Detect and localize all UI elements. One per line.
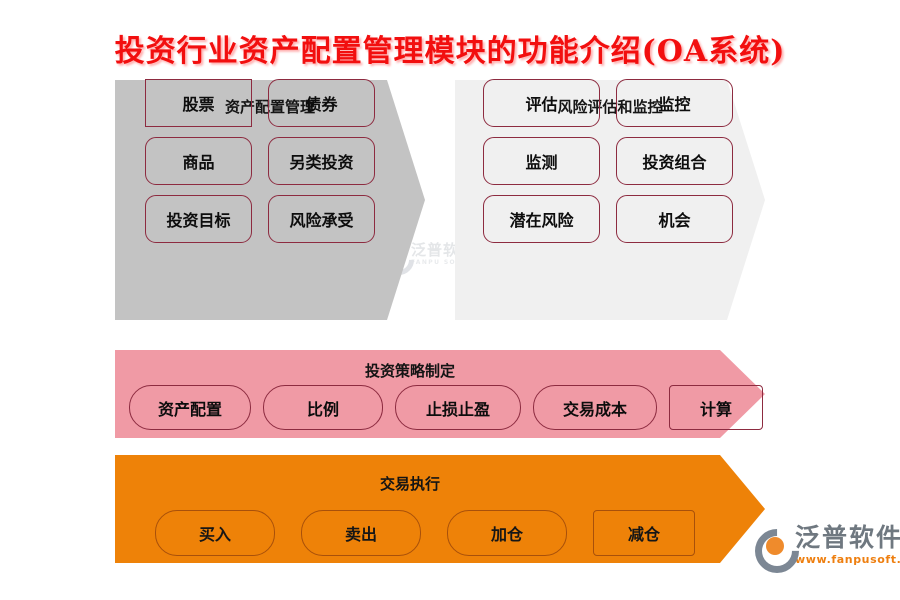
node-pinggu[interactable]: 评估 — [483, 79, 600, 127]
node-jiancang[interactable]: 减仓 — [593, 510, 695, 556]
node-maichu[interactable]: 卖出 — [301, 510, 421, 556]
fanpu-logo-icon — [755, 528, 789, 562]
band-investment-strategy[interactable]: 投资策略制定 资产配置 比例 止损止盈 交易成本 计算 — [115, 350, 765, 438]
node-linglei-touzi[interactable]: 另类投资 — [268, 137, 375, 185]
node-zhisun-zhiying[interactable]: 止损止盈 — [395, 385, 521, 430]
node-jisuan[interactable]: 计算 — [669, 385, 763, 430]
brand-name: 泛普软件 — [795, 525, 900, 550]
node-row-investment-strategy: 资产配置 比例 止损止盈 交易成本 计算 — [129, 385, 763, 430]
node-jihui[interactable]: 机会 — [616, 195, 733, 243]
node-jiance[interactable]: 监测 — [483, 137, 600, 185]
node-grid-asset-allocation: 股票 债券 商品 另类投资 投资目标 风险承受 — [145, 79, 375, 243]
band-heading-investment-strategy: 投资策略制定 — [85, 360, 735, 381]
node-fengxian-chengshou[interactable]: 风险承受 — [268, 195, 375, 243]
node-mairu[interactable]: 买入 — [155, 510, 275, 556]
node-grid-risk-assessment: 评估 监控 监测 投资组合 潜在风险 机会 — [483, 79, 733, 243]
node-shangpin[interactable]: 商品 — [145, 137, 252, 185]
node-jiacang[interactable]: 加仓 — [447, 510, 567, 556]
node-jiaoyi-chengben[interactable]: 交易成本 — [533, 385, 657, 430]
node-row-trade-execution: 买入 卖出 加仓 减仓 — [155, 510, 695, 556]
node-touzi-zuhe[interactable]: 投资组合 — [616, 137, 733, 185]
page-title: 投资行业资产配置管理模块的功能介绍(OA系统) — [0, 26, 900, 70]
node-jiankong[interactable]: 监控 — [616, 79, 733, 127]
node-bili[interactable]: 比例 — [263, 385, 383, 430]
node-gupiao[interactable]: 股票 — [145, 79, 252, 127]
band-trade-execution[interactable]: 交易执行 买入 卖出 加仓 减仓 — [115, 455, 765, 563]
node-qianzai-fengxian[interactable]: 潜在风险 — [483, 195, 600, 243]
slide-canvas: 投资行业资产配置管理模块的功能介绍(OA系统) 泛普软件 FANPU SOFTW… — [0, 0, 900, 600]
node-zichan-peizhi[interactable]: 资产配置 — [129, 385, 251, 430]
band-heading-trade-execution: 交易执行 — [85, 473, 735, 494]
brand-website: www.fanpusoft.com — [795, 554, 900, 565]
node-zhaiquan[interactable]: 债券 — [268, 79, 375, 127]
node-touzi-mubiao[interactable]: 投资目标 — [145, 195, 252, 243]
brand-logo: 泛普软件 www.fanpusoft.com — [755, 525, 900, 565]
